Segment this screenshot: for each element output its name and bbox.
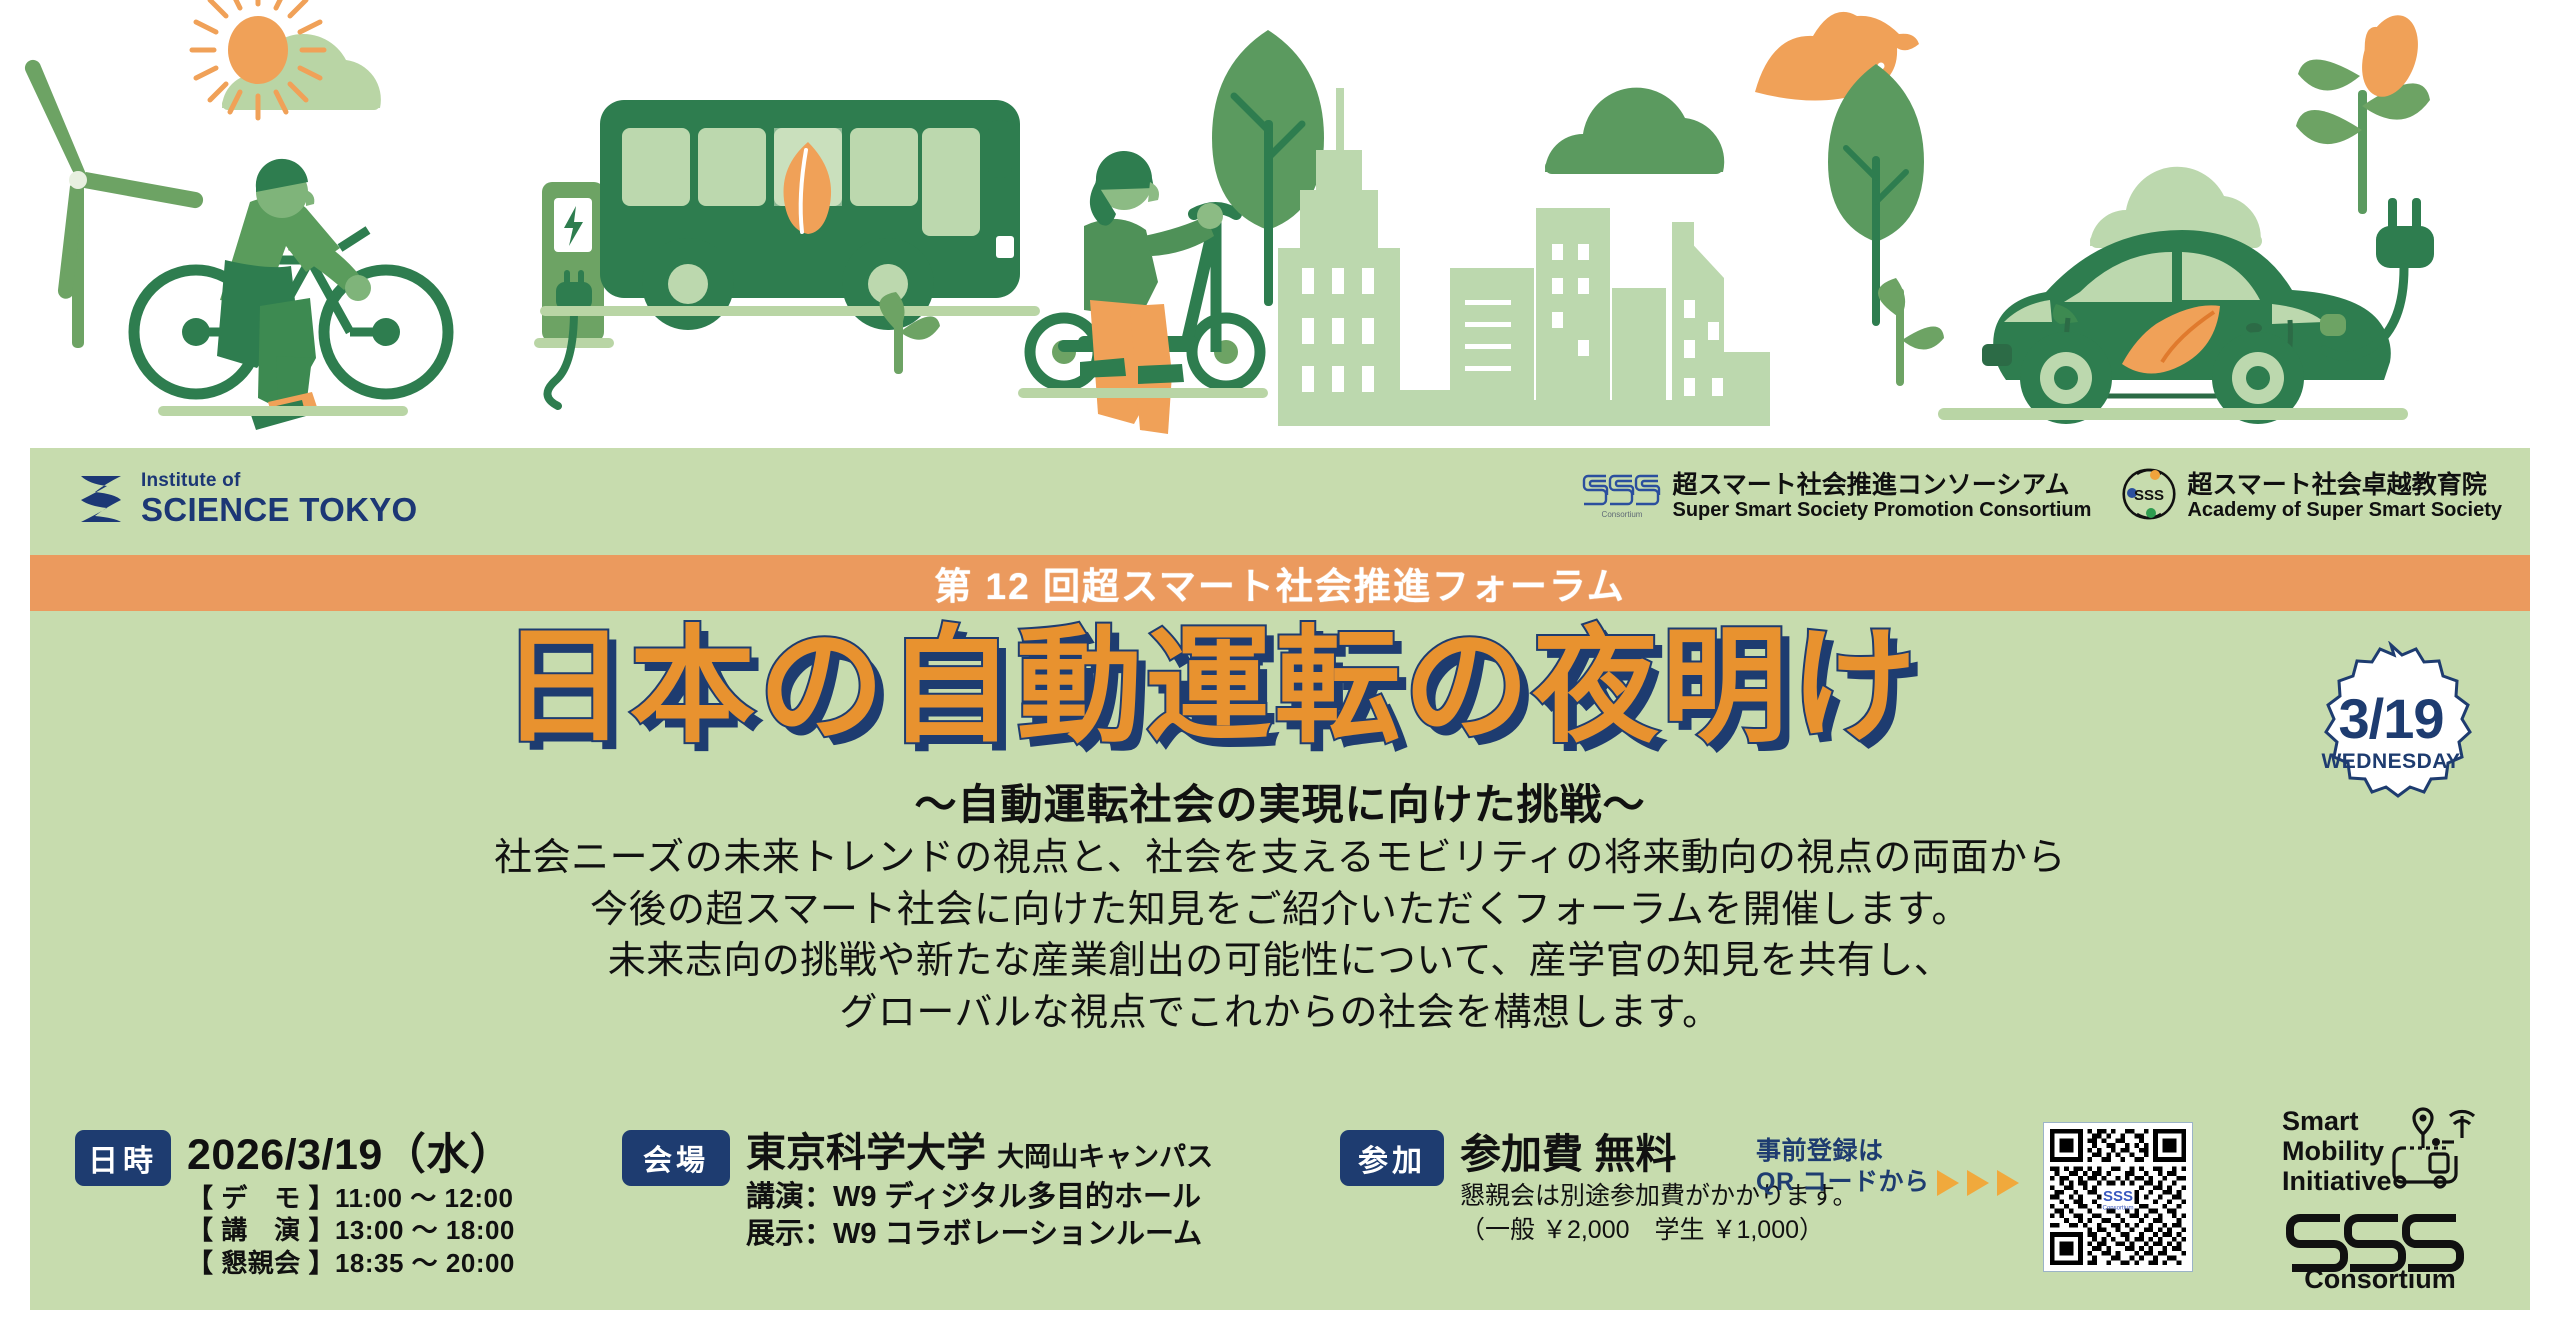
forum-ribbon-text: 第 12 回超スマート社会推進フォーラム (934, 556, 1626, 610)
institute-of-science-tokyo-logo: Institute of SCIENCE TOKYO (75, 470, 418, 526)
description-line-4: グローバルな視点でこれからの社会を構想します。 (30, 988, 2530, 1040)
sss-logos: Consortium 超スマート社会推進コンソーシアム Super Smart … (1582, 466, 2502, 527)
sss-mark-icon (2290, 1218, 2460, 1268)
description-line-3: 未来志向の挑戦や新たな産業創出の可能性について、産学官の知見を共有し、 (30, 936, 2530, 988)
date-badge-date: 3/19 (2339, 691, 2444, 747)
description-line-1: 社会ニーズの未来トレンドの視点と、社会を支えるモビリティの将来動向の視点の両面か… (30, 833, 2530, 885)
electric-car-icon (1938, 198, 2434, 424)
info-date-row-2: 【 講 演 】13:00 〜 18:00 (187, 1215, 515, 1246)
smi-line-2: Mobility (2282, 1136, 2384, 1166)
consortium-en-name: Super Smart Society Promotion Consortium (1672, 499, 2091, 521)
wind-turbine-icon (25, 60, 203, 348)
info-fee-tag: 参加 (1340, 1130, 1444, 1186)
sss-academy-mark-icon: SSS (2121, 466, 2177, 527)
info-venue-block: 会場 東京科学大学 大岡山キャンパス 講演：W9 ディジタル多目的ホール 展示：… (622, 1130, 1213, 1252)
institute-line2: SCIENCE TOKYO (141, 493, 418, 526)
info-venue-row-2: 展示：W9 コラボレーションルーム (746, 1217, 1213, 1251)
forum-ribbon: 第 12 回超スマート社会推進フォーラム (30, 555, 2530, 611)
info-date-row-1: 【 デ モ 】11:00 〜 12:00 (187, 1183, 515, 1214)
svg-text:Consortium: Consortium (2102, 1205, 2133, 1212)
smi-logo-icon: Smart Mobility Initiative (2280, 1102, 2485, 1292)
plant-icon (1878, 278, 1944, 386)
svg-text:SSS: SSS (2134, 487, 2164, 504)
sss-consortium-mark-caption: Consortium (1602, 510, 1643, 519)
smi-caption: Consortium (2304, 1264, 2456, 1292)
cloud-icon (1545, 88, 1724, 174)
smi-line-1: Smart (2282, 1106, 2359, 1136)
hero-illustration (0, 0, 2560, 448)
title-area: 日本の自動運転の夜明け (30, 620, 2530, 760)
science-tokyo-mark-icon (75, 470, 127, 526)
info-row: 日時 2026/3/19（水） 【 デ モ 】11:00 〜 12:00 【 講… (30, 1118, 2530, 1308)
info-fee-row-2: （一般 ￥2,000 学生 ￥1,000） (1460, 1216, 1858, 1246)
description-line-2: 今後の超スマート社会に向けた知見をご紹介いただくフォーラムを開催します。 (30, 885, 2530, 937)
info-venue-campus: 大岡山キャンパス (997, 1142, 1213, 1172)
electric-bus-icon (540, 100, 1040, 330)
info-venue-main: 東京科学大学 (746, 1131, 986, 1175)
qr-callout-line-2: QR コードから (1756, 1167, 1929, 1198)
institute-line1: Institute of (141, 471, 418, 490)
arrow-right-icon (1997, 1170, 2019, 1196)
page-subtitle: 〜自動運転社会の実現に向けた挑戦〜 (30, 771, 2530, 832)
plant-icon (2296, 8, 2430, 214)
academy-en-name: Academy of Super Smart Society (2187, 499, 2502, 521)
academy-jp-name: 超スマート社会卓越教育院 (2187, 471, 2502, 499)
date-badge-weekday: WEDNESDAY (2321, 750, 2460, 774)
description-block: 社会ニーズの未来トレンドの視点と、社会を支えるモビリティの将来動向の視点の両面か… (30, 833, 2530, 1040)
arrow-right-icon (1967, 1170, 1989, 1196)
sss-consortium-mark-icon: Consortium (1582, 468, 1662, 525)
consortium-jp-name: 超スマート社会推進コンソーシアム (1672, 471, 2091, 499)
sss-consortium-logo: Consortium 超スマート社会推進コンソーシアム Super Smart … (1582, 468, 2091, 525)
qr-callout-line-1: 事前登録は (1756, 1136, 2019, 1167)
info-date-block: 日時 2026/3/19（水） 【 デ モ 】11:00 〜 12:00 【 講… (75, 1130, 515, 1279)
qr-callout: 事前登録は QR コードから (1756, 1136, 2019, 1199)
sss-academy-logo: SSS 超スマート社会卓越教育院 Academy of Super Smart … (2121, 466, 2502, 527)
page-title: 日本の自動運転の夜明け (180, 620, 2240, 754)
info-date-tag: 日時 (75, 1130, 171, 1186)
logo-row: Institute of SCIENCE TOKYO (30, 448, 2530, 558)
smart-mobility-initiative-logo: Smart Mobility Initiative (2280, 1102, 2485, 1292)
info-venue-tag: 会場 (622, 1130, 730, 1186)
main-panel: Institute of SCIENCE TOKYO (30, 448, 2530, 1310)
info-date-row-3: 【 懇親会 】18:35 〜 20:00 (187, 1248, 515, 1279)
qr-code[interactable]: SSS Consortium (2043, 1122, 2193, 1272)
smi-line-3: Initiative (2282, 1166, 2392, 1196)
info-date-main: 2026/3/19（水） (187, 1130, 515, 1181)
svg-text:SSS: SSS (2103, 1188, 2133, 1205)
qr-code-icon[interactable]: SSS Consortium (2050, 1129, 2186, 1265)
mobility-glyph-icon (2394, 1109, 2474, 1187)
tree-icon (1828, 64, 1924, 326)
poster-root: Institute of SCIENCE TOKYO (0, 0, 2560, 1344)
arrow-right-icon (1937, 1170, 1959, 1196)
info-venue-row-1: 講演：W9 ディジタル多目的ホール (746, 1180, 1213, 1214)
